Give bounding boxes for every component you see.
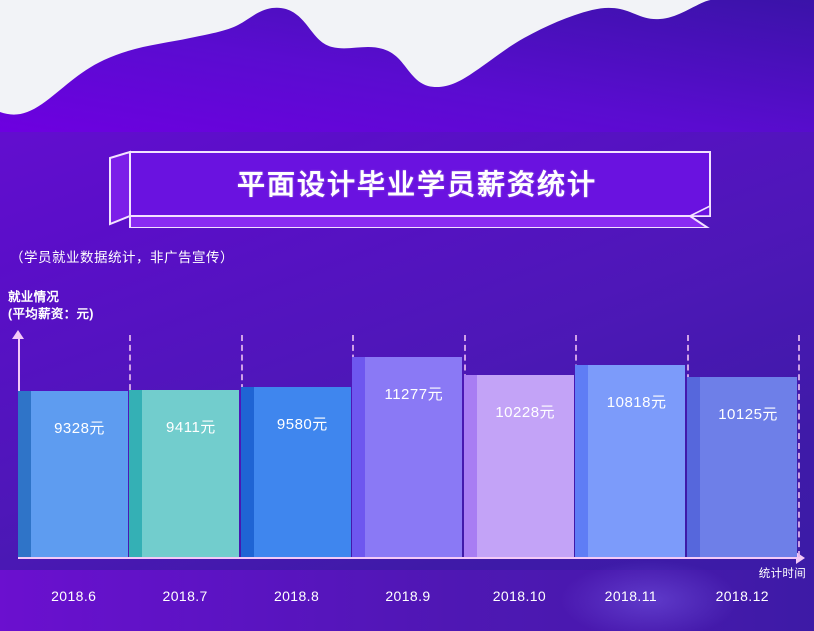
x-tick-2018.12: 2018.12	[687, 588, 798, 604]
bar-value-label: 11277元	[365, 383, 462, 404]
bar-value-label: 9328元	[31, 417, 128, 438]
bar-value-label: 10228元	[477, 401, 574, 422]
x-axis-tick-labels: 2018.62018.72018.82018.92018.102018.1120…	[0, 588, 814, 616]
x-tick-2018.11: 2018.11	[575, 588, 686, 604]
poster-canvas: 平面设计毕业学员薪资统计 （学员就业数据统计，非广告宣传） 就业情况 (平均薪资…	[0, 0, 814, 631]
x-tick-2018.9: 2018.9	[352, 588, 463, 604]
y-axis-caption-line1: 就业情况	[8, 289, 94, 306]
bar-side-face	[464, 375, 477, 557]
bar-side-face	[129, 390, 142, 557]
gridline	[798, 335, 800, 557]
page-title: 平面设计毕业学员薪资统计	[108, 150, 712, 216]
bar-front-face	[31, 391, 128, 557]
y-axis-caption: 就业情况 (平均薪资：元)	[8, 289, 94, 323]
bar-side-face	[575, 365, 588, 557]
bar-2018.9[interactable]: 11277元	[352, 357, 462, 557]
bar-2018.8[interactable]: 9580元	[241, 387, 351, 557]
bar-2018.11[interactable]: 10818元	[575, 365, 685, 557]
bar-2018.12[interactable]: 10125元	[687, 377, 797, 557]
bar-2018.10[interactable]: 10228元	[464, 375, 574, 557]
bar-2018.6[interactable]: 9328元	[18, 391, 128, 557]
bar-side-face	[687, 377, 700, 557]
bar-value-label: 9580元	[254, 413, 351, 434]
title-banner: 平面设计毕业学员薪资统计	[108, 150, 712, 228]
bar-side-face	[241, 387, 254, 557]
wave-decoration	[0, 0, 814, 132]
bar-value-label: 10818元	[588, 391, 685, 412]
x-axis-line	[18, 557, 798, 559]
bar-2018.7[interactable]: 9411元	[129, 390, 239, 557]
x-tick-2018.7: 2018.7	[129, 588, 240, 604]
y-axis-caption-line2: (平均薪资：元)	[8, 306, 94, 323]
x-axis-caption: 统计时间	[759, 565, 806, 581]
bar-value-label: 9411元	[142, 416, 239, 437]
top-white-band	[0, 0, 814, 132]
x-tick-2018.8: 2018.8	[241, 588, 352, 604]
bar-value-label: 10125元	[700, 403, 797, 424]
bar-chart: 9328元9411元9580元11277元10228元10818元10125元	[0, 330, 814, 570]
x-tick-2018.6: 2018.6	[18, 588, 129, 604]
subtitle: （学员就业数据统计，非广告宣传）	[10, 246, 234, 266]
x-tick-2018.10: 2018.10	[464, 588, 575, 604]
bar-side-face	[352, 357, 365, 557]
bar-side-face	[18, 391, 31, 557]
